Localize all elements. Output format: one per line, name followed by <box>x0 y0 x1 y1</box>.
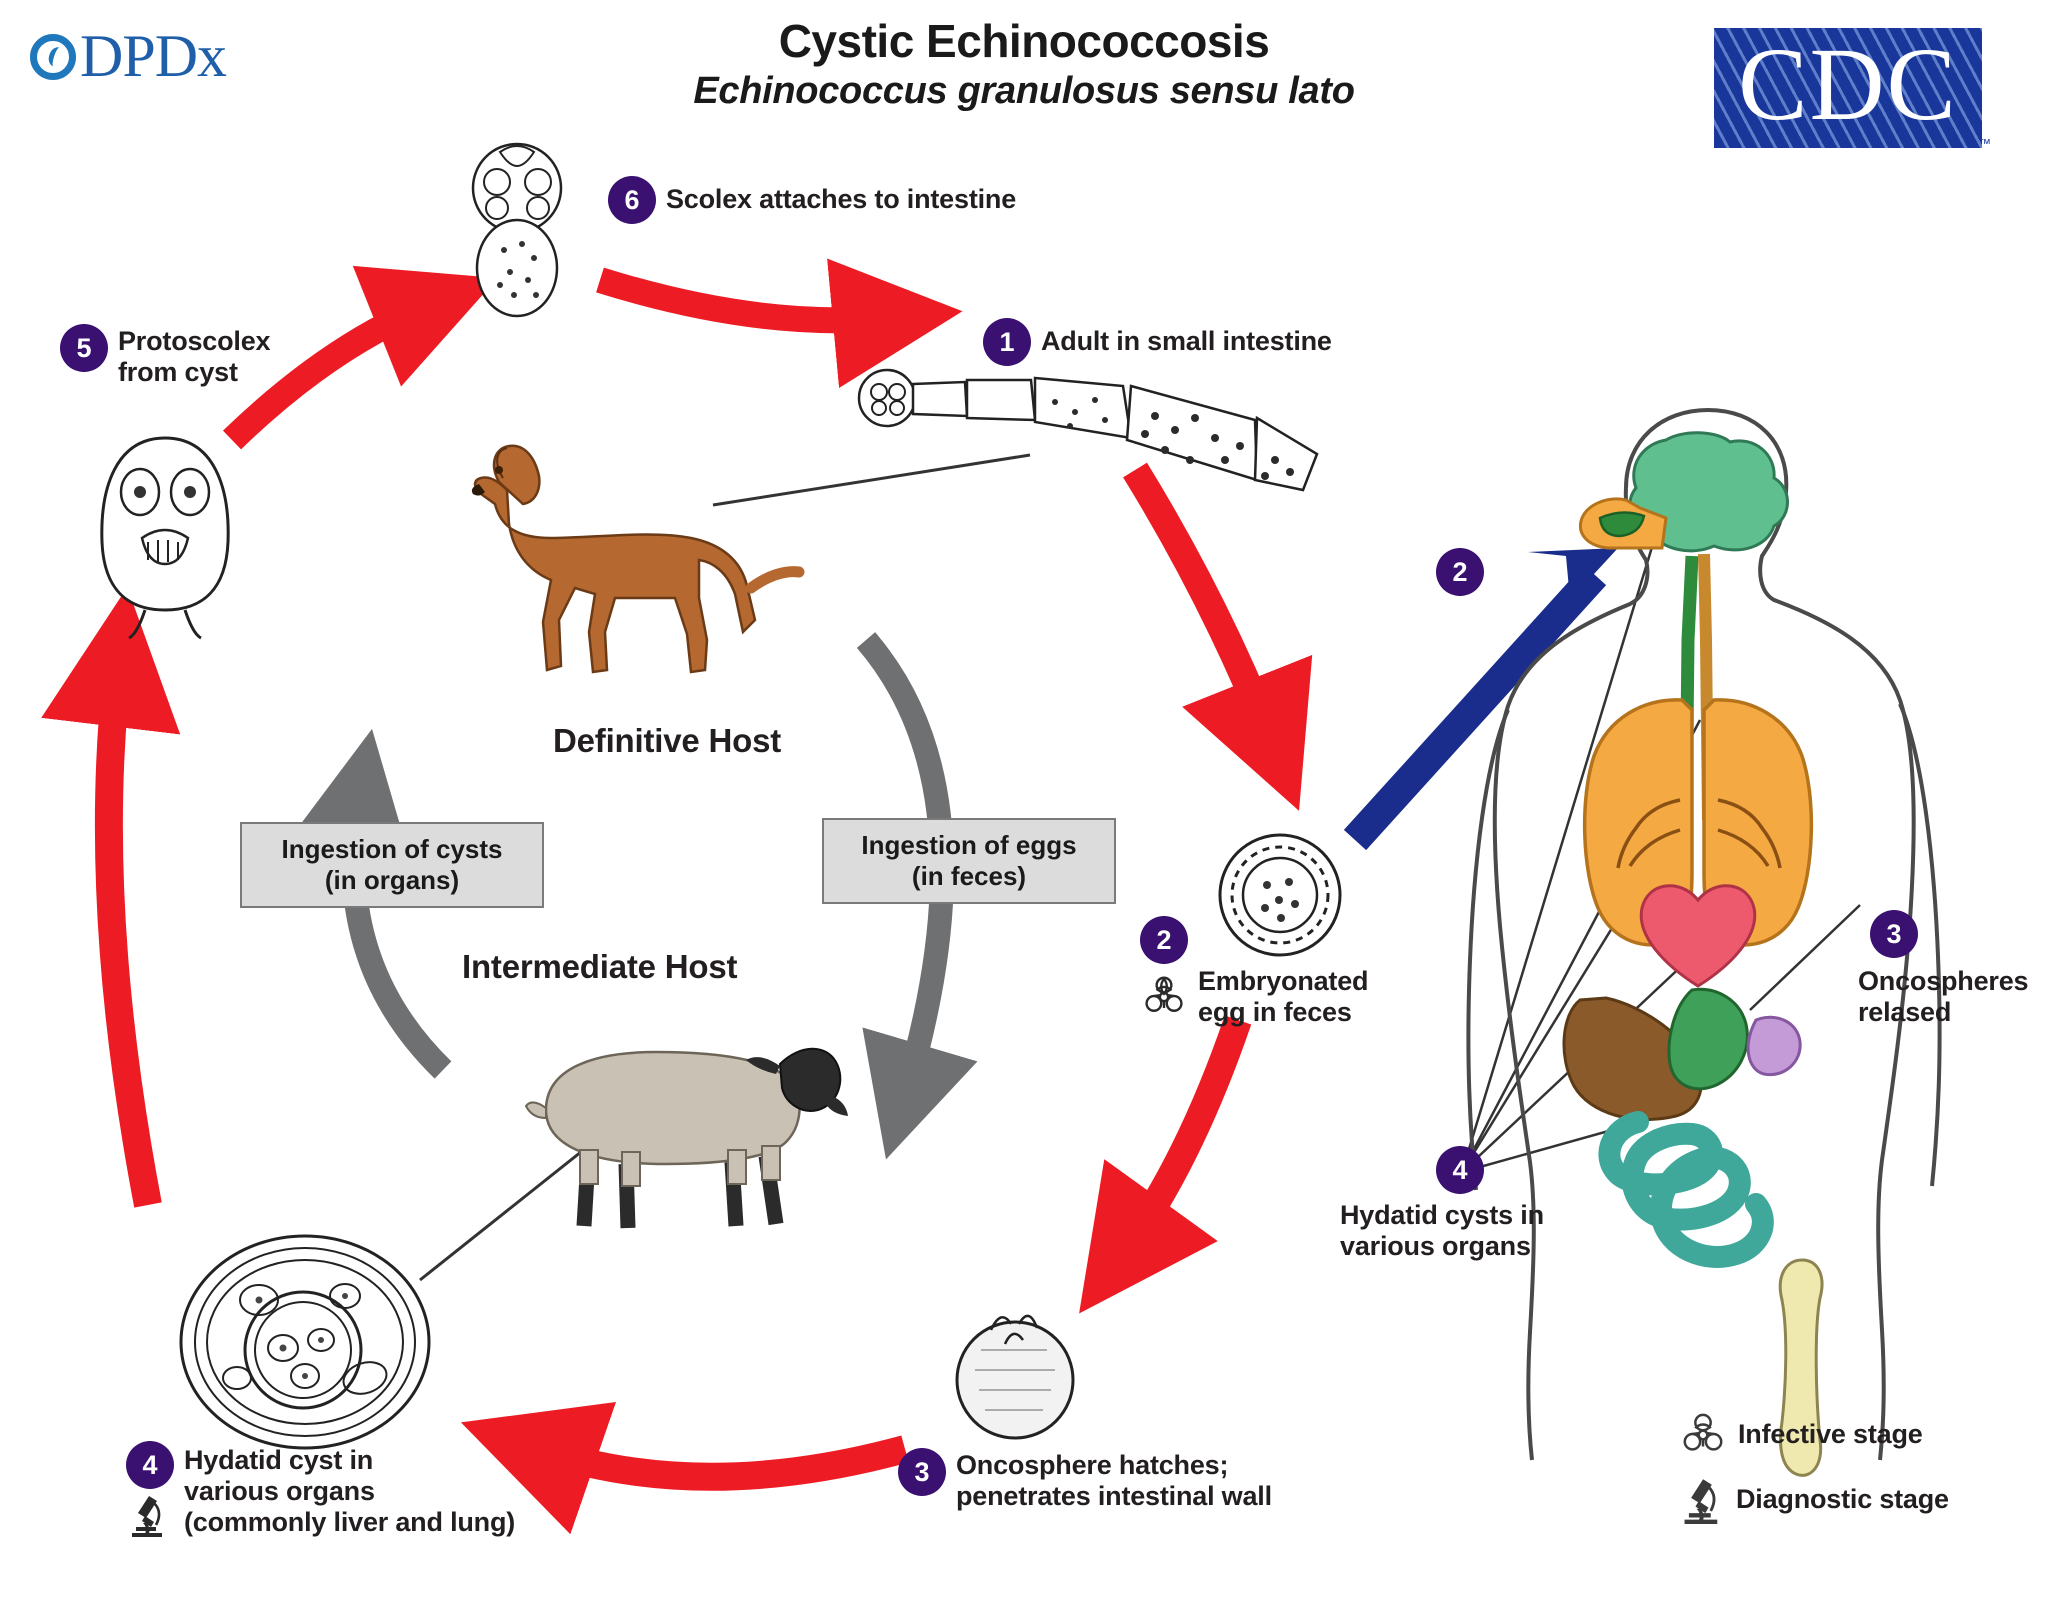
legend-item-infective: Infective stage <box>1680 1412 1949 1458</box>
biohazard-icon <box>1142 975 1186 1019</box>
step-1-text: Adult in small intestine <box>1041 326 1332 357</box>
ingestion-of-cysts-box: Ingestion of cysts (in organs) <box>240 822 544 908</box>
step-6-text: Scolex attaches to intestine <box>666 184 1016 215</box>
step-4-human-label: 4 Hydatid cysts in various organs <box>1420 1148 1544 1262</box>
step-3-human-label: 3 Oncospheres relased <box>1872 912 2028 1028</box>
oncosphere-illustration <box>945 1300 1085 1450</box>
step-3-human-text: Oncospheres relased <box>1858 966 2028 1028</box>
definitive-host-label: Definitive Host <box>553 722 781 760</box>
step-3-oncosphere-text: Oncosphere hatches; penetrates intestina… <box>956 1450 1272 1512</box>
microscope-icon <box>1680 1476 1724 1524</box>
step-6-badge: 6 <box>610 178 654 222</box>
arrow-oncosphere-to-cyst <box>535 1448 905 1477</box>
scolex-illustration <box>452 140 582 320</box>
hydatid-cyst-illustration <box>175 1230 435 1460</box>
legend-label-infective: Infective stage <box>1738 1419 1923 1450</box>
legend-item-diagnostic: Diagnostic stage <box>1680 1476 1949 1524</box>
step-1-badge: 1 <box>985 320 1029 364</box>
step-4-human-badge: 4 <box>1438 1148 1482 1192</box>
step-6-label: 6 Scolex attaches to intestine <box>610 178 1016 222</box>
step-2-human-badge: 2 <box>1438 550 1482 594</box>
arrow-adult-to-egg <box>1135 470 1270 738</box>
ingestion-eggs-line2: (in feces) <box>840 861 1098 892</box>
step-4-cyst-label: 4 Hydatid cyst in various organs (common <box>128 1443 515 1538</box>
step-5-badge: 5 <box>62 326 106 370</box>
ingestion-eggs-line1: Ingestion of eggs <box>840 830 1098 861</box>
step-5-text: Protoscolex from cyst <box>118 326 270 388</box>
step-3-oncosphere-label: 3 Oncosphere hatches; penetrates intesti… <box>900 1450 1272 1512</box>
step-4-cyst-text: Hydatid cyst in various organs (commonly… <box>184 1443 515 1538</box>
protoscolex-illustration <box>90 430 240 645</box>
microscope-icon <box>128 1493 172 1537</box>
arrow-scolex-to-adult <box>600 280 890 320</box>
step-1-label: 1 Adult in small intestine <box>985 320 1332 364</box>
ingestion-cysts-line1: Ingestion of cysts <box>258 834 526 865</box>
legend-label-diagnostic: Diagnostic stage <box>1736 1484 1949 1515</box>
step-4-cyst-badge: 4 <box>128 1443 172 1487</box>
step-4-human-text: Hydatid cysts in various organs <box>1340 1200 1544 1262</box>
ingestion-cysts-line2: (in organs) <box>258 865 526 896</box>
ingestion-of-eggs-box: Ingestion of eggs (in feces) <box>822 818 1116 904</box>
biohazard-icon <box>1680 1412 1726 1458</box>
arrow-egg-to-oncosphere <box>1125 1020 1238 1250</box>
step-3-human-badge: 3 <box>1872 912 1916 956</box>
step-2-egg-badge: 2 <box>1142 918 1186 962</box>
step-2-egg-text: Embryonated egg in feces <box>1198 966 1368 1028</box>
step-4-cyst-icons: 4 <box>128 1443 172 1537</box>
legend: Infective stage Diagnostic stage <box>1680 1412 1949 1524</box>
step-5-label: 5 Protoscolex from cyst <box>62 326 270 388</box>
step-3-oncosphere-badge: 3 <box>900 1450 944 1494</box>
arrow-cyst-to-protoscolex <box>109 665 148 1205</box>
intermediate-host-label: Intermediate Host <box>462 948 737 986</box>
sheep-illustration <box>480 1000 870 1250</box>
dog-illustration <box>455 420 800 710</box>
step-2-egg-label: 2 Embryonated egg in feces <box>1142 918 1368 1028</box>
adult-worm-illustration <box>855 368 1325 498</box>
